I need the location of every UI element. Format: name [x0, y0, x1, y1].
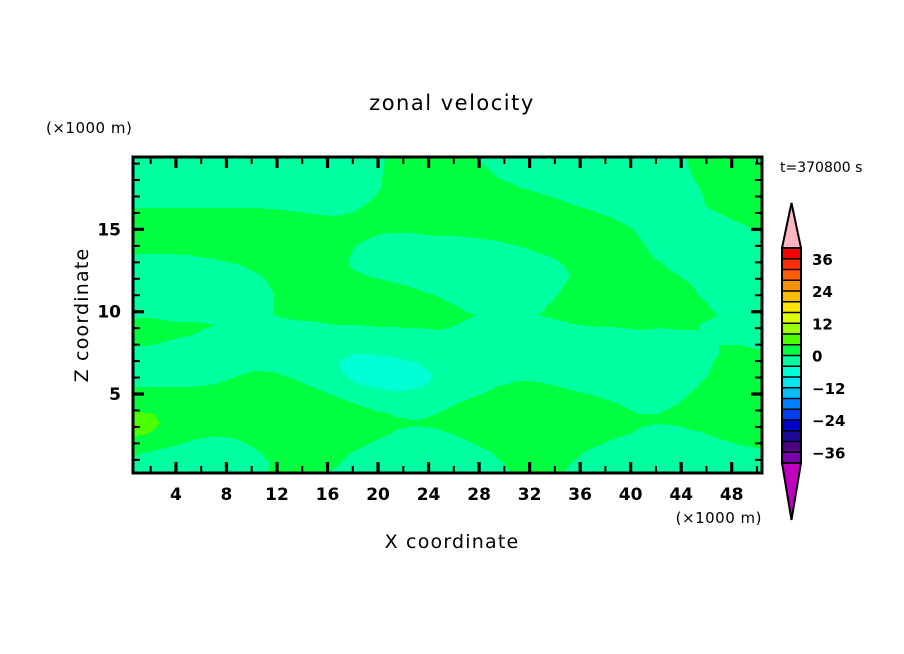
x-tick-label: 4 [170, 485, 182, 505]
x-tick-label: 16 [316, 485, 340, 505]
x-unit-label: (×1000 m) [676, 509, 762, 527]
x-tick-label: 44 [669, 485, 693, 505]
x-tick-label: 24 [417, 485, 441, 505]
x-tick-label: 40 [619, 485, 643, 505]
contour-figure: zonal velocity (×1000 m) t=370800 s 4812… [0, 0, 904, 654]
x-tick-label: 12 [265, 485, 289, 505]
colorbar-tick-label: 36 [812, 251, 833, 269]
y-tick-label: 15 [97, 220, 121, 240]
colorbar-tick-label: −24 [812, 412, 845, 430]
y-axis-label: Z coordinate [71, 248, 93, 383]
colorbar-tick-label: −36 [812, 444, 845, 462]
colorbar-tick-label: 12 [812, 315, 833, 333]
x-axis-label: X coordinate [385, 531, 520, 553]
timestamp-annotation: t=370800 s [780, 160, 862, 176]
y-tick-label: 10 [97, 303, 121, 323]
contour-field [133, 157, 763, 474]
colorbar-tick-label: 0 [812, 348, 822, 366]
x-tick-label: 48 [720, 485, 744, 505]
x-tick-label: 32 [518, 485, 542, 505]
x-tick-label: 20 [366, 485, 390, 505]
x-tick-label: 28 [467, 485, 491, 505]
x-tick-label: 36 [568, 485, 592, 505]
y-tick-label: 5 [109, 385, 121, 405]
colorbar-tick-label: −12 [812, 380, 845, 398]
y-unit-label: (×1000 m) [46, 119, 132, 137]
colorbar-tick-label: 24 [812, 283, 833, 301]
page-title: zonal velocity [369, 91, 535, 115]
x-tick-label: 8 [221, 485, 233, 505]
